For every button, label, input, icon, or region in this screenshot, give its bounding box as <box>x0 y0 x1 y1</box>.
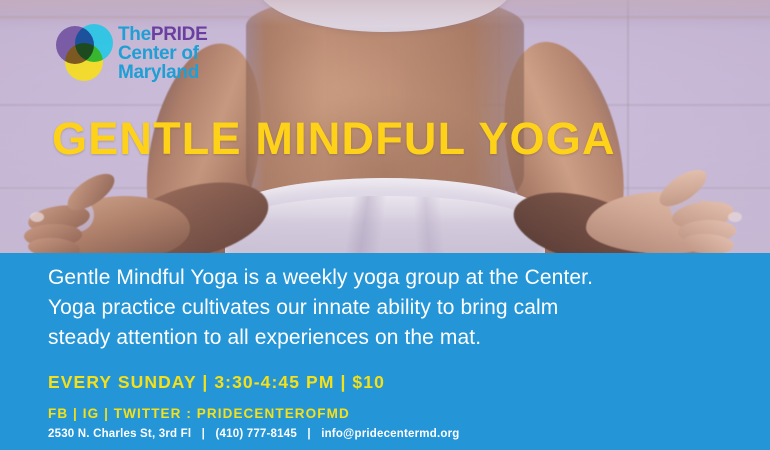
yoga-event-flyer: ThePRIDE Center of Maryland GENTLE MINDF… <box>0 0 770 450</box>
contact-email[interactable]: info@pridecentermd.org <box>321 428 459 440</box>
social-handles-line[interactable]: FB | IG | TWITTER : PRIDECENTEROFMD <box>48 406 350 421</box>
description-line-1: Gentle Mindful Yoga is a weekly yoga gro… <box>48 263 748 293</box>
info-panel: Gentle Mindful Yoga is a weekly yoga gro… <box>0 253 770 450</box>
left-fingernail <box>30 212 44 222</box>
schedule-line: EVERY SUNDAY | 3:30-4:45 PM | $10 <box>48 372 385 393</box>
right-fingernail <box>728 212 742 222</box>
contact-phone[interactable]: (410) 777-8145 <box>216 428 297 440</box>
description-line-3: steady attention to all experiences on t… <box>48 323 748 353</box>
left-hand-mudra <box>22 176 218 253</box>
right-hand-mudra <box>552 172 758 253</box>
pants-fold-highlights <box>235 196 535 253</box>
logo-line1-pride: PRIDE <box>151 24 208 45</box>
contact-separator-2: | <box>300 428 317 440</box>
logo-circle-yellow <box>65 43 103 81</box>
venn-circles-icon <box>56 24 114 82</box>
logo-line3: Maryland <box>118 63 207 82</box>
contact-separator-1: | <box>195 428 212 440</box>
contact-line: 2530 N. Charles St, 3rd Fl | (410) 777-8… <box>48 428 459 440</box>
description-line-2: Yoga practice cultivates our innate abil… <box>48 293 748 323</box>
pride-center-logo[interactable]: ThePRIDE Center of Maryland <box>56 24 207 82</box>
logo-wordmark: ThePRIDE Center of Maryland <box>118 25 207 82</box>
description-text: Gentle Mindful Yoga is a weekly yoga gro… <box>48 263 748 353</box>
page-title: GENTLE MINDFUL YOGA <box>52 113 616 165</box>
logo-line1-the: The <box>118 24 151 45</box>
contact-address: 2530 N. Charles St, 3rd Fl <box>48 428 191 440</box>
logo-line2: Center of <box>118 44 207 63</box>
